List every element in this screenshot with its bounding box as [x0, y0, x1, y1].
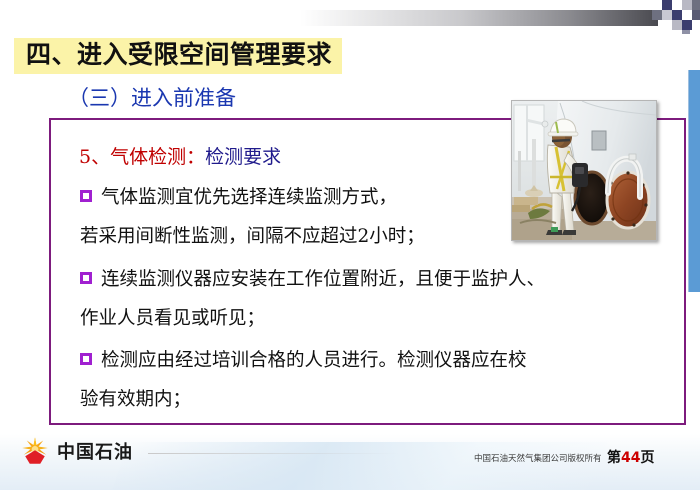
checker-square: [682, 30, 690, 34]
checker-square: [672, 0, 682, 10]
checker-square: [662, 10, 672, 20]
brand-name: 中国石油: [57, 438, 133, 464]
slide-canvas: 四、进入受限空间管理要求 （三）进入前准备 5、气体检测：检测要求 气体监测宜优…: [0, 0, 700, 490]
square-bullet-icon: [80, 190, 92, 202]
right-accent-bar: [688, 70, 700, 292]
checker-square: [682, 10, 692, 20]
footer-swoosh-decoration: [112, 442, 608, 490]
worker-at-tank-manhole-photo: [511, 100, 657, 241]
section-heading-blue: 检测要求: [205, 146, 281, 168]
checker-square: [652, 10, 662, 20]
footer-divider-line: [148, 453, 398, 454]
checker-square: [672, 10, 682, 20]
bullet-text: 检测应由经过培训合格的人员进行。检测仪器应在校: [101, 350, 527, 371]
page-subtitle: （三）进入前准备: [68, 82, 236, 112]
checker-square: [682, 0, 692, 10]
page-number-value: 44: [621, 450, 640, 466]
checker-square: [692, 20, 700, 30]
checker-square: [672, 20, 682, 30]
checker-square: [692, 10, 700, 20]
bullet-continuation: 作业人员看见或听见；: [80, 310, 265, 329]
bullet-continuation: 若采用间断性监测，间隔不应超过2小时；: [80, 228, 425, 247]
page-title: 四、进入受限空间管理要求: [14, 38, 342, 74]
bullet-item: 连续监测仪器应安装在工作位置附近，且便于监护人、: [80, 271, 545, 290]
square-bullet-icon: [80, 353, 92, 365]
page-number-suffix: 页: [640, 450, 654, 466]
square-bullet-icon: [80, 272, 92, 284]
page-number-prefix: 第: [607, 450, 621, 466]
page-title-text: 四、进入受限空间管理要求: [26, 40, 332, 70]
bullet-continuation: 验有效期内；: [80, 391, 191, 410]
petrochina-sunburst-logo-icon: [20, 436, 50, 466]
bullet-text: 气体监测宜优先选择连续监测方式，: [101, 187, 397, 208]
checker-square: [682, 20, 692, 30]
section-heading-red: 5、气体检测：: [79, 146, 205, 168]
checker-square: [662, 0, 672, 10]
checker-decoration: [652, 0, 700, 34]
bullet-text: 连续监测仪器应安装在工作位置附近，且便于监护人、: [101, 269, 545, 290]
page-number-indicator: 第44页: [607, 447, 654, 467]
brand-block: 中国石油: [20, 434, 133, 468]
bullet-item: 检测应由经过培训合格的人员进行。检测仪器应在校: [80, 352, 527, 371]
copyright-text: 中国石油天然气集团公司版权所有: [474, 452, 602, 464]
bullet-item: 气体监测宜优先选择连续监测方式，: [80, 189, 397, 208]
section-heading: 5、气体检测：检测要求: [79, 142, 281, 169]
top-gradient-bar: [300, 10, 658, 26]
checker-square: [692, 0, 700, 10]
